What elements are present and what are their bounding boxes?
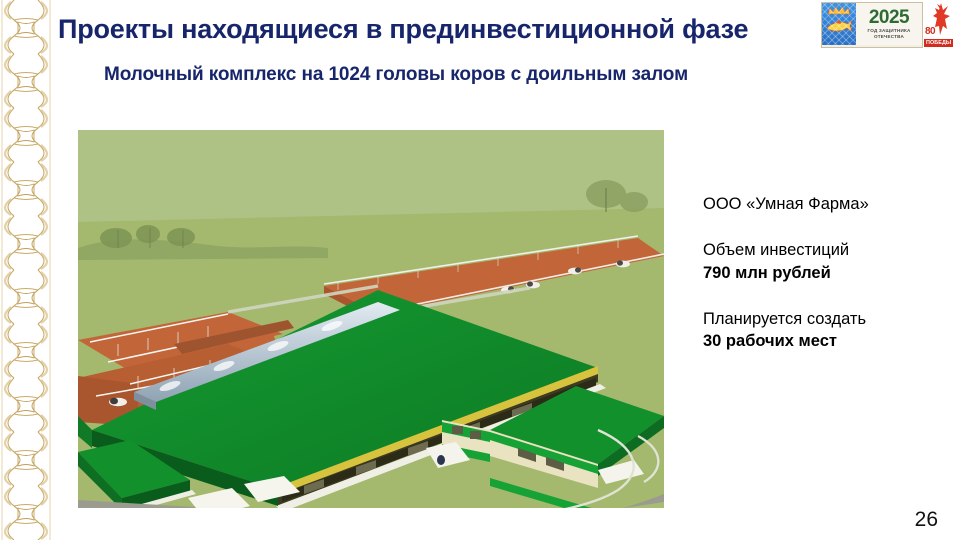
- victory-number: 80: [925, 26, 935, 37]
- investment-label: Объем инвестиций: [703, 242, 953, 259]
- ornament-unit: [0, 324, 52, 378]
- year-badge: 2025 ГОД ЗАЩИТНИКА ОТЕЧЕСТВА: [856, 3, 922, 45]
- astrakhan-coat-of-arms-icon: [822, 3, 856, 45]
- ornament-unit: [0, 0, 52, 54]
- page-number: 26: [915, 508, 938, 532]
- ornament-unit: [0, 216, 52, 270]
- ornament-unit: [0, 432, 52, 486]
- year-caption-line2: ОТЕЧЕСТВА: [874, 35, 904, 40]
- ornament-unit: [0, 378, 52, 432]
- render-svg: [78, 130, 664, 508]
- ornament-unit: [0, 54, 52, 108]
- ornament-unit: [0, 162, 52, 216]
- investment-value: 790 млн рублей: [703, 265, 953, 282]
- project-info-block: ООО «Умная Фарма» Объем инвестиций 790 м…: [703, 196, 953, 351]
- year-number: 2025: [869, 8, 909, 27]
- year-of-defender-logo: 2025 ГОД ЗАЩИТНИКА ОТЕЧЕСТВА: [821, 2, 923, 48]
- victory-80-logo: 80 ПОБЕДЫ: [924, 2, 956, 48]
- ornament-unit: [0, 486, 52, 540]
- victory-label: ПОБЕДЫ: [924, 39, 953, 47]
- ornament-unit: [0, 108, 52, 162]
- page-subtitle: Молочный комплекс на 1024 головы коров с…: [104, 64, 864, 86]
- company-name: ООО «Умная Фарма»: [703, 196, 953, 213]
- decorative-border-left: [0, 0, 52, 540]
- dairy-complex-render-image: [78, 130, 664, 508]
- page-title: Проекты находящиеся в прединвестиционной…: [58, 14, 808, 45]
- ornament-unit: [0, 270, 52, 324]
- jobs-label: Планируется создать: [703, 311, 953, 328]
- jobs-value: 30 рабочих мест: [703, 333, 953, 350]
- logo-cluster: 2025 ГОД ЗАЩИТНИКА ОТЕЧЕСТВА 80 ПОБЕДЫ: [821, 2, 958, 48]
- slide: Проекты находящиеся в прединвестиционной…: [0, 0, 960, 540]
